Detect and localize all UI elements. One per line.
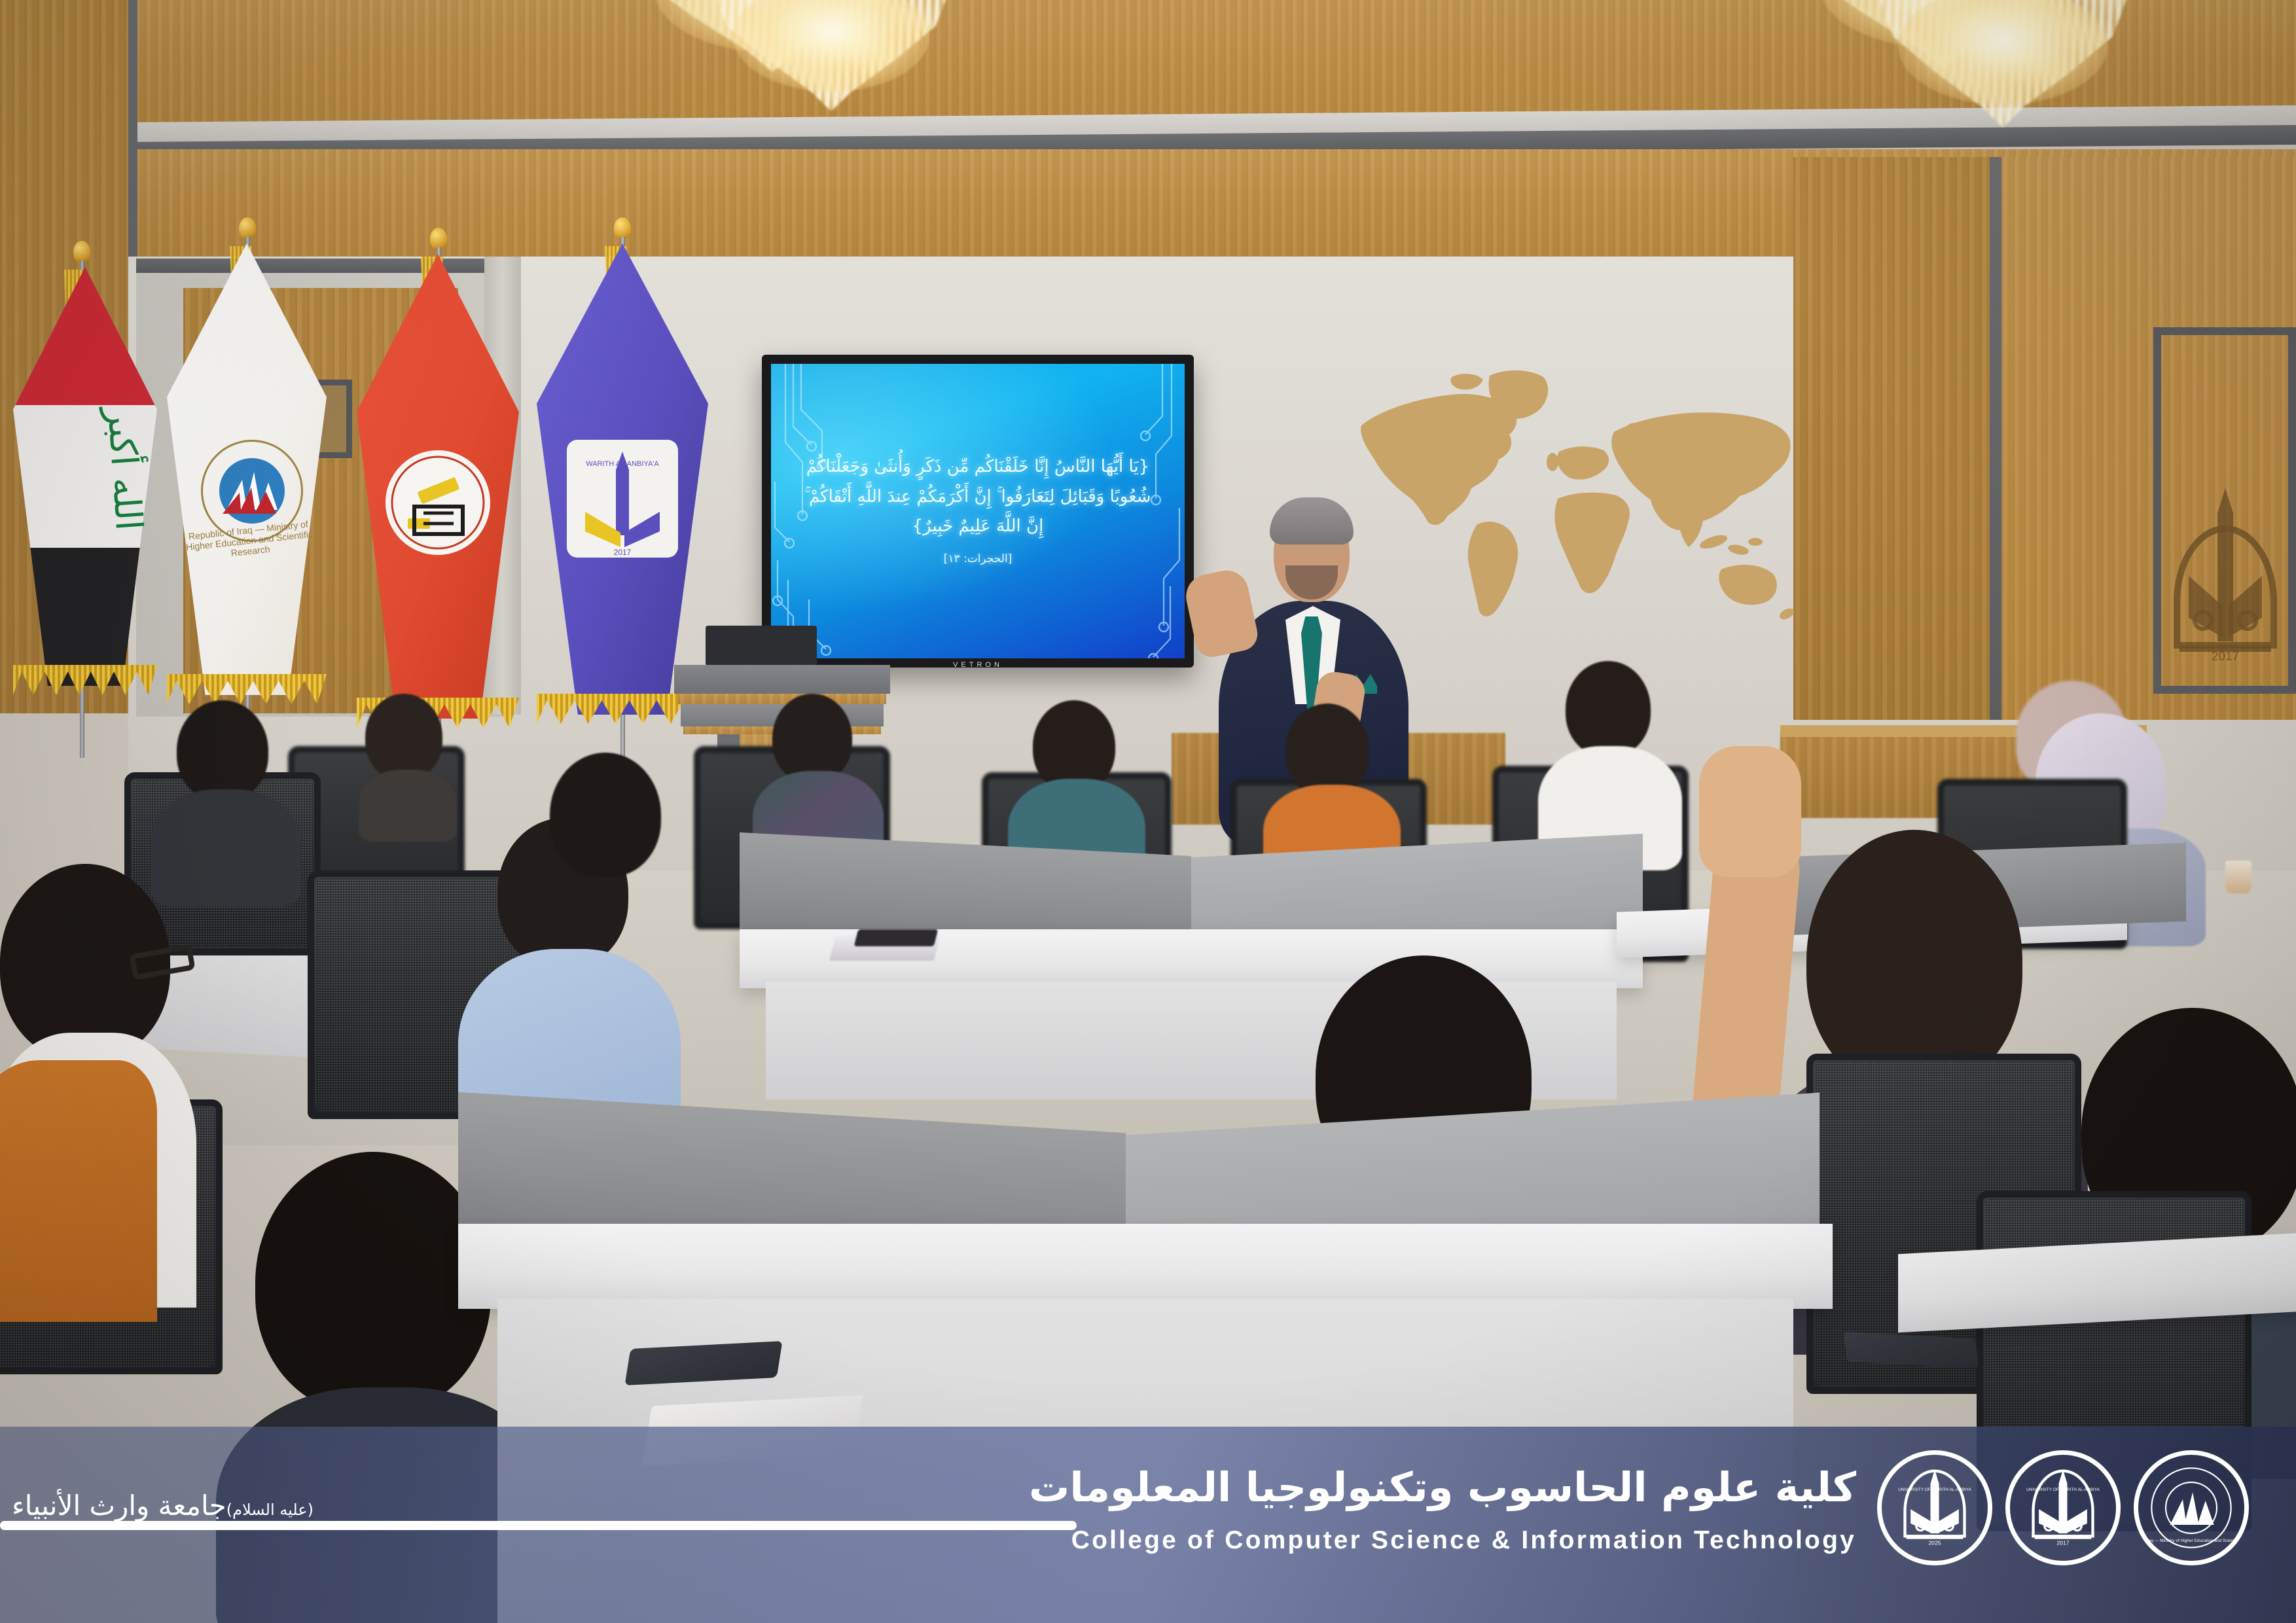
student-head bbox=[772, 694, 852, 783]
student-head bbox=[1285, 704, 1369, 796]
student-orange-polo bbox=[1263, 704, 1401, 867]
chandelier-right-b bbox=[1872, 0, 2134, 151]
presentation-display[interactable]: {يَا أَيُّهَا النَّاسُ إِنَّا خَلَقْنَاك… bbox=[762, 355, 1194, 668]
ministry-logo-text-en: Republic of Iraq — Ministry of Higher Ed… bbox=[2149, 1539, 2234, 1543]
lecturer-hair bbox=[1270, 497, 1354, 544]
footer-ministry-logo: Republic of Iraq — Ministry of Higher Ed… bbox=[2134, 1450, 2249, 1565]
wall-logo-year: 2017 bbox=[2212, 650, 2239, 664]
flag-cloth-shrine bbox=[357, 254, 519, 719]
footer-college-name-arabic: كلية علوم الحاسوب وتكنولوجيا المعلومات bbox=[1029, 1463, 1856, 1511]
desk-smartphone-mid[interactable] bbox=[854, 929, 938, 946]
footer-university-main: جامعة وارث الأنبياء bbox=[12, 1489, 226, 1522]
university-logo-text-en: UNIVERSITY OF WARITH AL-ANBIYA bbox=[2026, 1488, 2100, 1492]
flag-iraq-inscription: الله أكبر bbox=[20, 448, 150, 538]
lecture-hall-room: 2017 الله أكبر bbox=[0, 0, 2296, 1623]
ministry-logo-mark: Republic of Iraq — Ministry of Higher Ed… bbox=[2149, 1465, 2234, 1550]
desk-foreground bbox=[458, 1224, 1833, 1309]
lectern-top bbox=[674, 665, 890, 694]
student-head bbox=[365, 694, 442, 780]
footer-college-logo: UNIVERSITY OF WARITH AL-ANBIYA 2025 bbox=[1877, 1450, 1992, 1565]
flag-ministry: Republic of Iraq — Ministry of Higher Ed… bbox=[167, 234, 331, 745]
student-head bbox=[177, 700, 268, 801]
university-logo-mark: UNIVERSITY OF WARITH AL-ANBIYA 2017 bbox=[2020, 1465, 2106, 1550]
flag-cloth-ministry: Republic of Iraq — Ministry of Higher Ed… bbox=[167, 243, 327, 695]
quran-verse-text: {يَا أَيُّهَا النَّاسُ إِنَّا خَلَقْنَاك… bbox=[796, 452, 1160, 542]
footer-university-logo: UNIVERSITY OF WARITH AL-ANBIYA 2017 bbox=[2005, 1450, 2121, 1565]
flag-shrine bbox=[357, 243, 520, 760]
wall-engraved-university-logo: 2017 bbox=[2160, 478, 2291, 674]
college-logo-year: 2025 bbox=[1928, 1539, 1941, 1546]
lectern-laptop[interactable] bbox=[706, 626, 817, 666]
university-logo-year: 2017 bbox=[2056, 1539, 2069, 1546]
raised-hand-palm bbox=[1699, 746, 1801, 877]
footer-college-name-english: College of Computer Science & Informatio… bbox=[1071, 1526, 1856, 1555]
footer-banner: (عليه السلام)جامعة وارث الأنبياء كلية عل… bbox=[0, 1427, 2296, 1623]
flag-finial-shrine bbox=[430, 228, 447, 250]
student-head bbox=[255, 1152, 491, 1414]
flag-finial-iraq bbox=[73, 241, 90, 263]
student-head bbox=[1806, 830, 2022, 1092]
student-back-left bbox=[359, 694, 457, 818]
paper-cup bbox=[2225, 861, 2251, 893]
flag-fringe-iraq bbox=[13, 665, 157, 695]
student-head bbox=[1566, 661, 1651, 757]
chandelier-center bbox=[707, 0, 956, 131]
flag-cloth-iraq: الله أكبر bbox=[13, 267, 157, 686]
student-head bbox=[1033, 700, 1115, 792]
student-teal-shirt bbox=[1008, 700, 1145, 870]
right-panel-divider-a bbox=[1990, 157, 2001, 720]
footer-university-name-arabic: (عليه السلام)جامعة وارث الأنبياء bbox=[12, 1489, 314, 1522]
tv-brand-label: VETRON bbox=[953, 661, 1003, 669]
flag-shrine-emblem bbox=[386, 450, 490, 555]
photograph-canvas: 2017 الله أكبر bbox=[0, 0, 2296, 1623]
college-logo-mark: UNIVERSITY OF WARITH AL-ANBIYA 2025 bbox=[1892, 1465, 1977, 1550]
flag-finial-ministry bbox=[239, 217, 256, 240]
student-second-row-left bbox=[151, 700, 301, 870]
flag-university-emblem: WARITH AL-ANBIYA'A 2017 bbox=[567, 440, 678, 558]
flag-university-emblem-text-en: WARITH AL-ANBIYA'A bbox=[586, 460, 659, 468]
student-hoodie bbox=[753, 694, 884, 857]
student-orange-vest-garment bbox=[0, 1060, 157, 1322]
footer-accent-rule bbox=[0, 1521, 1077, 1530]
college-logo-text-en: UNIVERSITY OF WARITH AL-ANBIYA bbox=[1898, 1488, 1972, 1492]
flag-university-emblem-year: 2017 bbox=[614, 548, 632, 557]
student-head bbox=[550, 753, 661, 877]
student-behind-blue-shirt bbox=[530, 753, 681, 910]
student-white-shirt bbox=[1538, 661, 1682, 857]
student-body bbox=[359, 770, 457, 842]
footer-university-suffix: (عليه السلام) bbox=[226, 1501, 314, 1519]
flag-finial-university bbox=[614, 217, 631, 240]
flag-iraq: الله أكبر bbox=[13, 255, 164, 740]
display-screen-content: {يَا أَيُّهَا النَّاسُ إِنَّا خَلَقْنَاك… bbox=[771, 364, 1185, 658]
right-wood-panel-a bbox=[1793, 157, 1990, 720]
quran-verse-reference: [الحجرات: ١٣] bbox=[771, 552, 1185, 565]
